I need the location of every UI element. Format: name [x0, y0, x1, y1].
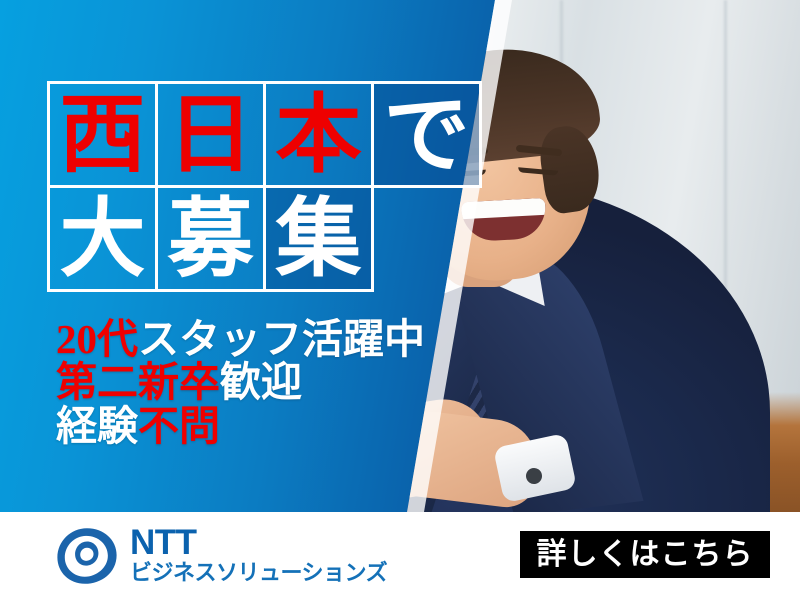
ntt-logo: NTT ビジネスソリューションズ — [56, 526, 387, 585]
hero-section: 西 日 本 で 大 募 集 20代スタッフ活躍中 第二新卒歓迎 経験不問 — [0, 0, 800, 512]
subhead-line-2-white: 歓迎 — [220, 359, 302, 405]
details-cta-label: 詳しくはこちら — [537, 540, 754, 570]
ntt-dynamic-loop-icon — [56, 527, 118, 585]
headline-cell: 大 — [47, 185, 158, 292]
ntt-name: NTT — [130, 526, 387, 560]
headline-cell: 集 — [263, 185, 374, 292]
subhead-line-3-red: 不問 — [138, 403, 220, 449]
headline-cell: 本 — [263, 81, 374, 188]
recruitment-banner: 西 日 本 で 大 募 集 20代スタッフ活躍中 第二新卒歓迎 経験不問 — [0, 0, 800, 600]
subhead-line-1-red: 20代 — [56, 316, 138, 362]
headline-grid: 西 日 本 で 大 募 集 — [47, 81, 479, 292]
subhead-line-3-white: 経験 — [56, 403, 138, 449]
headline-cell: 日 — [155, 81, 266, 188]
headline-cell: 西 — [47, 81, 158, 188]
subhead-line-1: 20代スタッフ活躍中 — [56, 318, 456, 361]
footer-bar: NTT ビジネスソリューションズ 詳しくはこちら — [0, 512, 800, 600]
headline-cell: で — [371, 81, 482, 188]
subhead-line-3: 経験不問 — [56, 405, 456, 448]
ntt-subtitle: ビジネスソリューションズ — [130, 561, 387, 586]
subhead-line-2: 第二新卒歓迎 — [56, 361, 456, 404]
subhead-block: 20代スタッフ活躍中 第二新卒歓迎 経験不問 — [56, 318, 456, 448]
headline-cell: 募 — [155, 185, 266, 292]
subhead-line-1-white: スタッフ活躍中 — [138, 316, 425, 362]
subhead-line-2-red: 第二新卒 — [56, 359, 220, 405]
headline-row-1: 西 日 本 で — [47, 81, 479, 188]
headline-row-2: 大 募 集 — [47, 188, 479, 292]
details-cta-button[interactable]: 詳しくはこちら — [520, 531, 770, 578]
ntt-wordmark: NTT ビジネスソリューションズ — [130, 526, 387, 585]
